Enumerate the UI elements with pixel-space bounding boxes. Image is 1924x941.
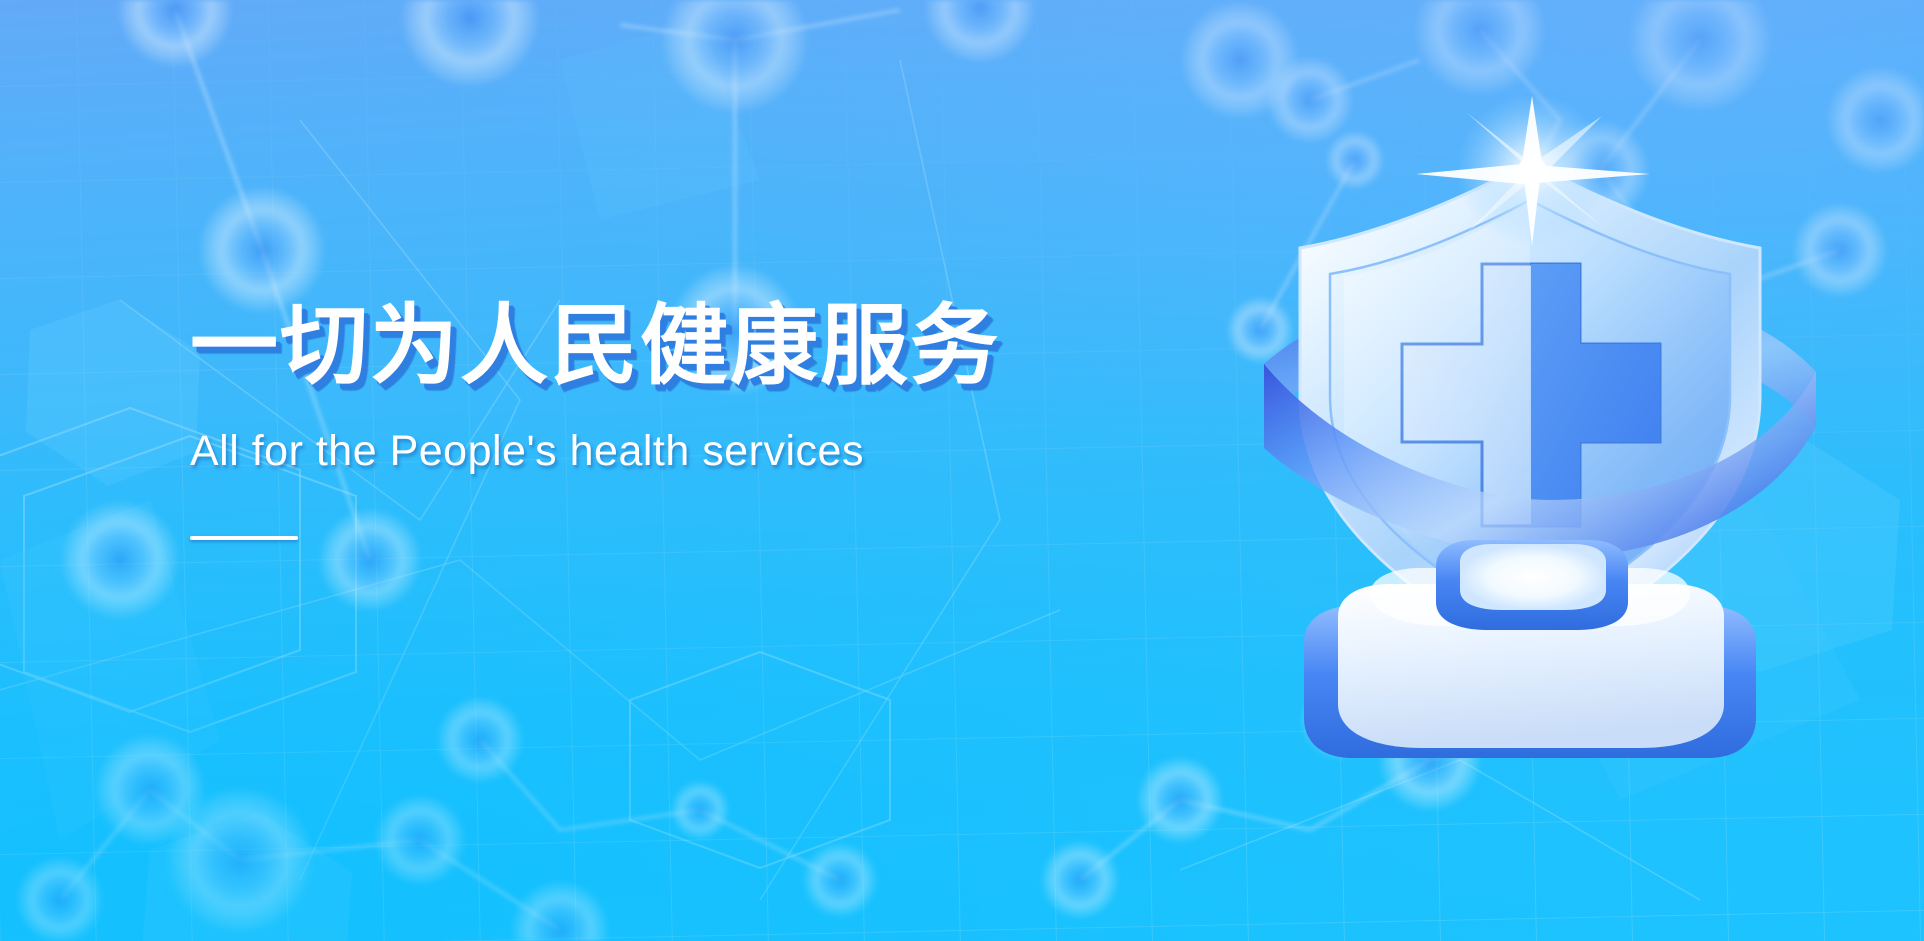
pedestal-icon xyxy=(1304,540,1756,758)
headline-chinese: 一切为人民健康服务 xyxy=(190,300,1090,392)
health-banner: 一切为人民健康服务 All for the People's health se… xyxy=(0,0,1924,941)
shield-illustration xyxy=(1220,96,1840,816)
decorative-divider xyxy=(190,536,298,540)
banner-text-block: 一切为人民健康服务 All for the People's health se… xyxy=(190,300,1090,540)
headline-english: All for the People's health services xyxy=(190,428,1090,475)
